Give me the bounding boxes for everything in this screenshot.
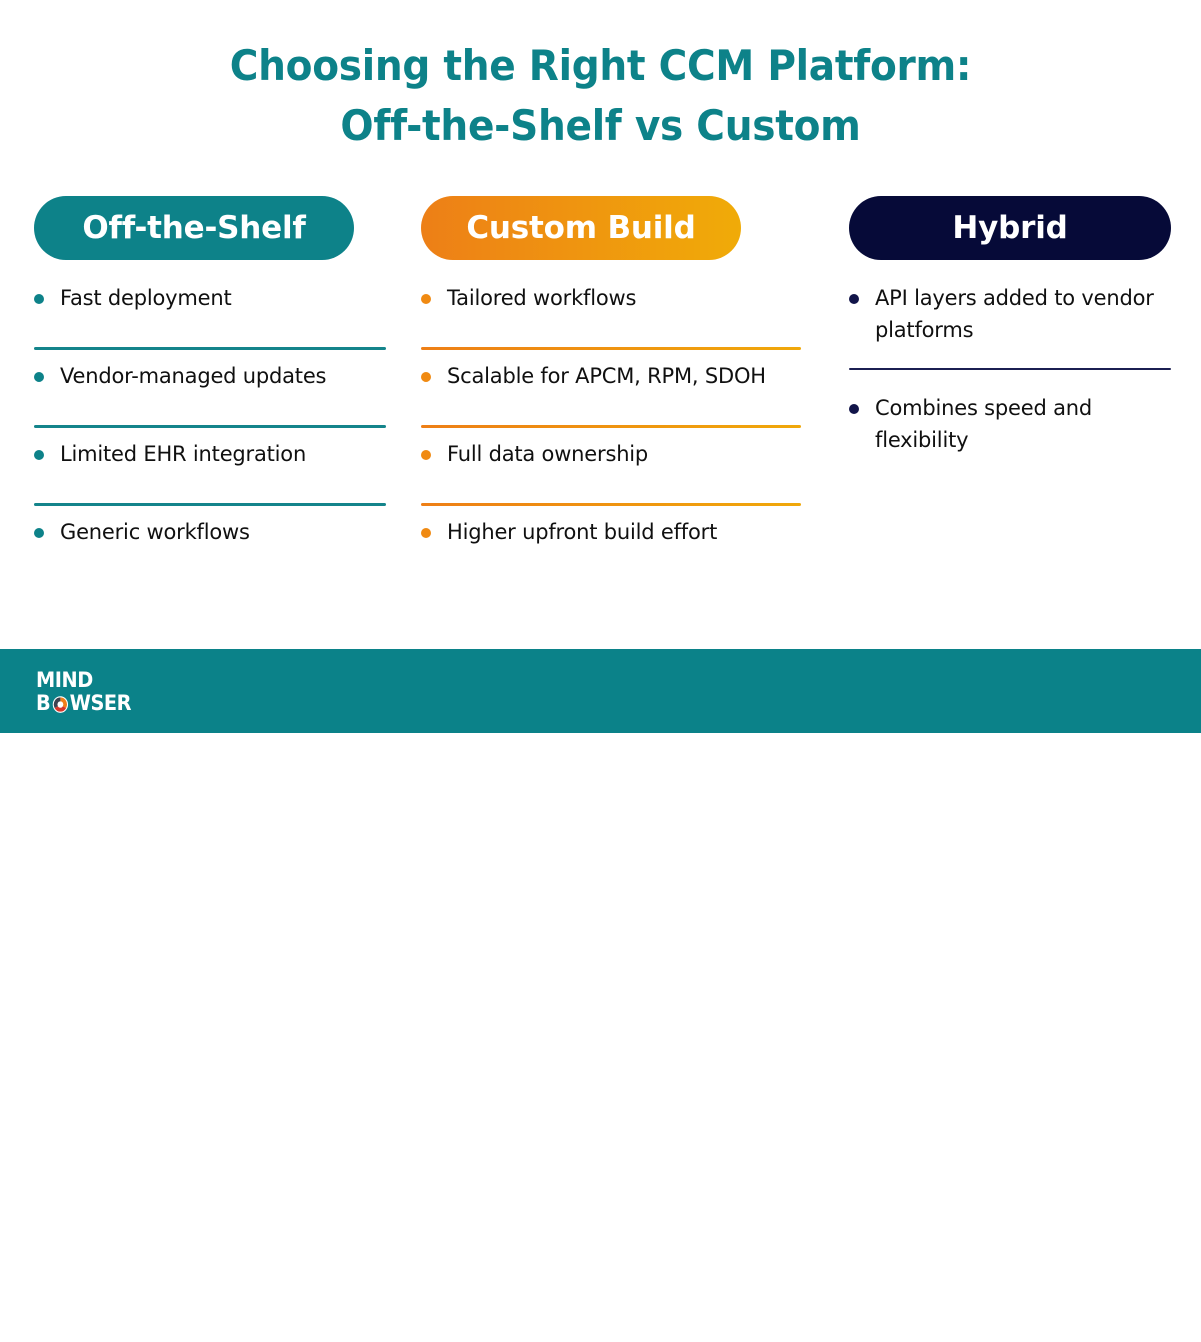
bullet-icon bbox=[421, 528, 431, 538]
column-heading-off-the-shelf: Off-the-Shelf bbox=[34, 196, 354, 260]
list-item: Full data ownership bbox=[421, 438, 821, 494]
bullet-icon bbox=[849, 294, 859, 304]
mindbowser-logo: MIND B WSER bbox=[36, 670, 166, 714]
list-item-label: Higher upfront build effort bbox=[447, 516, 717, 548]
list-item: Fast deployment bbox=[34, 282, 386, 338]
logo-text-mind: MIND bbox=[36, 670, 156, 691]
list-divider bbox=[421, 503, 801, 506]
list-divider bbox=[849, 368, 1171, 370]
bullet-icon bbox=[34, 372, 44, 382]
list-item-label: Combines speed and flexibility bbox=[875, 392, 1171, 456]
list-divider bbox=[421, 347, 801, 350]
list-item-label: Fast deployment bbox=[60, 282, 231, 314]
list-item: Higher upfront build effort bbox=[421, 516, 821, 572]
list-item: Generic workflows bbox=[34, 516, 386, 572]
bullet-icon bbox=[421, 294, 431, 304]
list-item: Limited EHR integration bbox=[34, 438, 386, 494]
list-divider bbox=[421, 425, 801, 428]
title-line-2: Off-the-Shelf vs Custom bbox=[42, 96, 1159, 156]
mindbowser-swirl-icon bbox=[51, 695, 68, 714]
footer-email[interactable]: contact@mindbowser.com bbox=[442, 1322, 689, 1342]
list-item: Vendor-managed updates bbox=[34, 360, 386, 416]
column-custom-build: Custom Build Tailored workflows Scalable… bbox=[421, 196, 821, 572]
list-item-label: API layers added to vendor platforms bbox=[875, 282, 1171, 346]
feature-list-custom-build: Tailored workflows Scalable for APCM, RP… bbox=[421, 282, 821, 572]
feature-list-off-the-shelf: Fast deployment Vendor-managed updates L… bbox=[34, 282, 386, 572]
list-item: Scalable for APCM, RPM, SDOH bbox=[421, 360, 821, 416]
column-heading-hybrid: Hybrid bbox=[849, 196, 1171, 260]
column-off-the-shelf: Off-the-Shelf Fast deployment Vendor-man… bbox=[34, 196, 386, 572]
title-line-1: Choosing the Right CCM Platform: bbox=[42, 36, 1159, 96]
logo-text-bowser: B WSER bbox=[36, 693, 156, 714]
list-item-label: Tailored workflows bbox=[447, 282, 636, 314]
list-item: Tailored workflows bbox=[421, 282, 821, 338]
list-item-label: Generic workflows bbox=[60, 516, 250, 548]
logo-text-wser: WSER bbox=[70, 693, 131, 714]
page-title: Choosing the Right CCM Platform: Off-the… bbox=[0, 36, 1201, 156]
bullet-icon bbox=[421, 450, 431, 460]
list-item: API layers added to vendor platforms bbox=[849, 282, 1171, 346]
bullet-icon bbox=[421, 372, 431, 382]
footer-website[interactable]: www.mindbowser.com bbox=[908, 1322, 1120, 1342]
comparison-columns: Off-the-Shelf Fast deployment Vendor-man… bbox=[0, 196, 1201, 626]
bullet-icon bbox=[34, 528, 44, 538]
bullet-icon bbox=[34, 450, 44, 460]
list-item-label: Vendor-managed updates bbox=[60, 360, 326, 392]
column-hybrid: Hybrid API layers added to vendor platfo… bbox=[849, 196, 1171, 456]
list-divider bbox=[34, 347, 386, 350]
bullet-icon bbox=[849, 404, 859, 414]
column-heading-custom-build: Custom Build bbox=[421, 196, 741, 260]
list-item-label: Limited EHR integration bbox=[60, 438, 306, 470]
list-divider bbox=[34, 425, 386, 428]
list-item: Combines speed and flexibility bbox=[849, 392, 1171, 456]
list-item-label: Scalable for APCM, RPM, SDOH bbox=[447, 360, 766, 392]
bullet-icon bbox=[34, 294, 44, 304]
list-item-label: Full data ownership bbox=[447, 438, 648, 470]
feature-list-hybrid: API layers added to vendor platforms Com… bbox=[849, 282, 1171, 456]
footer-bar: MIND B WSER contact@mindbowser.com www.m… bbox=[0, 649, 1201, 733]
logo-text-b: B bbox=[36, 693, 50, 714]
list-divider bbox=[34, 503, 386, 506]
